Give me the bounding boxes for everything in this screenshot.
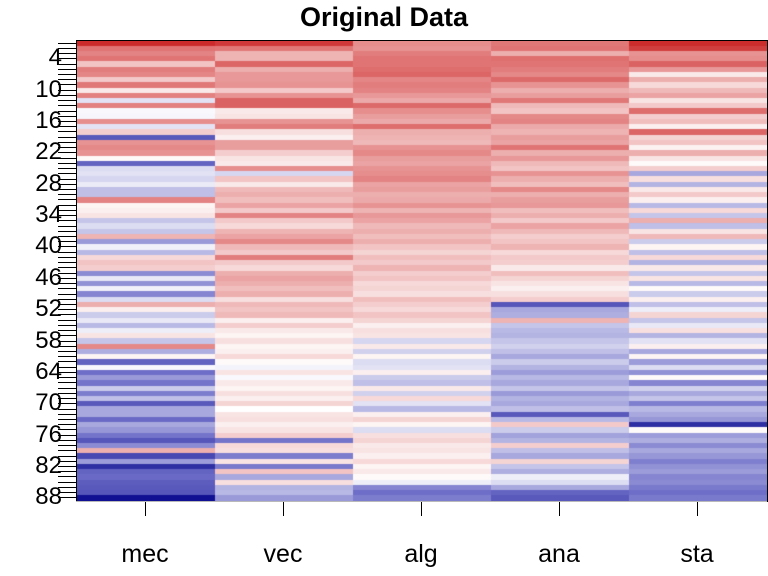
y-axis-tick — [58, 74, 76, 75]
y-axis-label: 10 — [35, 78, 62, 102]
y-axis-label: 40 — [35, 234, 62, 258]
y-axis-label: 52 — [35, 297, 62, 321]
x-axis-tick — [559, 502, 560, 516]
heatmap-cells — [77, 41, 767, 501]
y-axis-label: 82 — [35, 454, 62, 478]
x-axis-tick — [283, 502, 284, 516]
y-axis-label: 58 — [35, 329, 62, 353]
x-axis-label-ana: ana — [538, 540, 580, 569]
x-axis-tick — [697, 502, 698, 516]
x-axis-label-mec: mec — [121, 540, 168, 569]
x-axis-label-alg: alg — [404, 540, 437, 569]
x-axis-tick — [145, 502, 146, 516]
y-axis-tick — [58, 168, 76, 169]
y-axis-label: 76 — [35, 423, 62, 447]
page-title: Original Data — [0, 2, 768, 33]
y-axis-label: 4 — [49, 46, 62, 70]
y-axis-tick — [58, 325, 76, 326]
x-axis-label-vec: vec — [264, 540, 303, 569]
y-axis-label: 28 — [35, 172, 62, 196]
y-axis-label: 70 — [35, 391, 62, 415]
x-axis-label-sta: sta — [680, 540, 713, 569]
y-axis-tick — [58, 262, 76, 263]
y-axis-tick — [58, 419, 76, 420]
y-axis-label: 64 — [35, 360, 62, 384]
y-axis-label: 88 — [35, 485, 62, 509]
y-axis-label: 22 — [35, 140, 62, 164]
y-axis-label: 46 — [35, 266, 62, 290]
heatmap-figure: Original Data 41016222834404652586470768… — [0, 0, 768, 576]
x-axis-tick — [421, 502, 422, 516]
heatmap-plot-area — [76, 40, 768, 502]
y-axis-label: 34 — [35, 203, 62, 227]
y-axis-label: 16 — [35, 109, 62, 133]
